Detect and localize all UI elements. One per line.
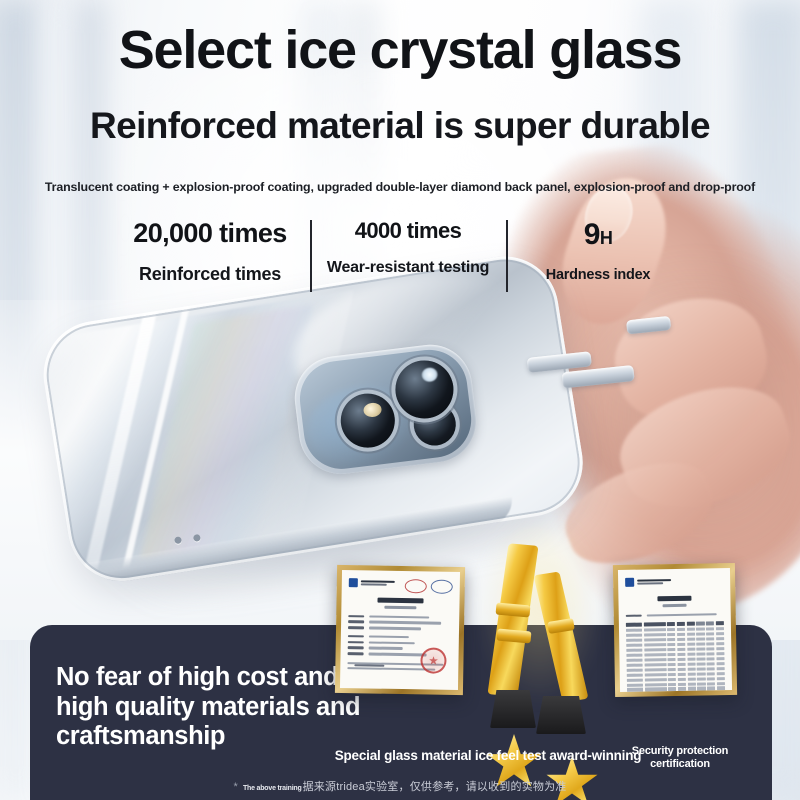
stat-label: Reinforced times	[139, 264, 281, 285]
certificate-award	[335, 565, 465, 695]
stat-item-wear-resistant: 4000 times Wear-resistant testing	[310, 218, 506, 294]
certificate-logo	[625, 576, 723, 587]
certificate-badges	[405, 579, 453, 594]
certificate-title-bar	[658, 596, 691, 602]
disclaimer-chinese: 据来源tridea实验室，仅供参考，请以收到的实物为准	[303, 781, 567, 793]
disclaimer-star: *	[233, 781, 237, 793]
stat-value-number: 9	[584, 218, 600, 251]
trophy-base	[490, 690, 536, 728]
certificate-page	[618, 568, 732, 692]
certificate-caption: Security protection certification	[612, 745, 748, 771]
camera-module	[290, 340, 481, 479]
camera-module-inner	[296, 346, 476, 474]
stat-value: 20,000 times	[133, 218, 286, 249]
stat-label: Hardness index	[546, 267, 651, 283]
product-poster: Select ice crystal glass Reinforced mate…	[0, 0, 800, 800]
trophy-caption: Special glass material ice feel test awa…	[320, 748, 656, 764]
page-subtitle: Reinforced material is super durable	[0, 106, 800, 147]
stat-item-reinforced: 20,000 times Reinforced times	[110, 218, 310, 294]
certificate-subtitle-bar	[385, 606, 416, 609]
disclaimer-english-overlay: The above training	[243, 785, 302, 792]
stat-label: Wear-resistant testing	[327, 259, 489, 277]
badge-icon	[431, 580, 453, 594]
certificate-page	[340, 570, 460, 690]
stat-value: 9H	[584, 218, 613, 252]
test-report-table	[626, 621, 725, 692]
badge-icon	[405, 579, 427, 593]
certificate-subtitle-bar	[663, 604, 687, 607]
stat-value-suffix: H	[600, 228, 612, 248]
disclaimer: *The above training据来源tridea实验室，仅供参考，请以收…	[0, 778, 800, 794]
trophy-base	[536, 696, 586, 734]
stat-item-hardness: 9H Hardness index	[506, 218, 690, 294]
certificate-title-bar	[378, 598, 424, 604]
stats-strip: 20,000 times Reinforced times 4000 times…	[110, 218, 690, 294]
certificate-security	[613, 563, 737, 697]
stat-value: 4000 times	[355, 218, 462, 244]
page-title: Select ice crystal glass	[0, 22, 800, 79]
award-trophy	[484, 506, 596, 728]
certificate-signature	[354, 664, 384, 667]
tagline: Translucent coating + explosion-proof co…	[0, 180, 800, 195]
